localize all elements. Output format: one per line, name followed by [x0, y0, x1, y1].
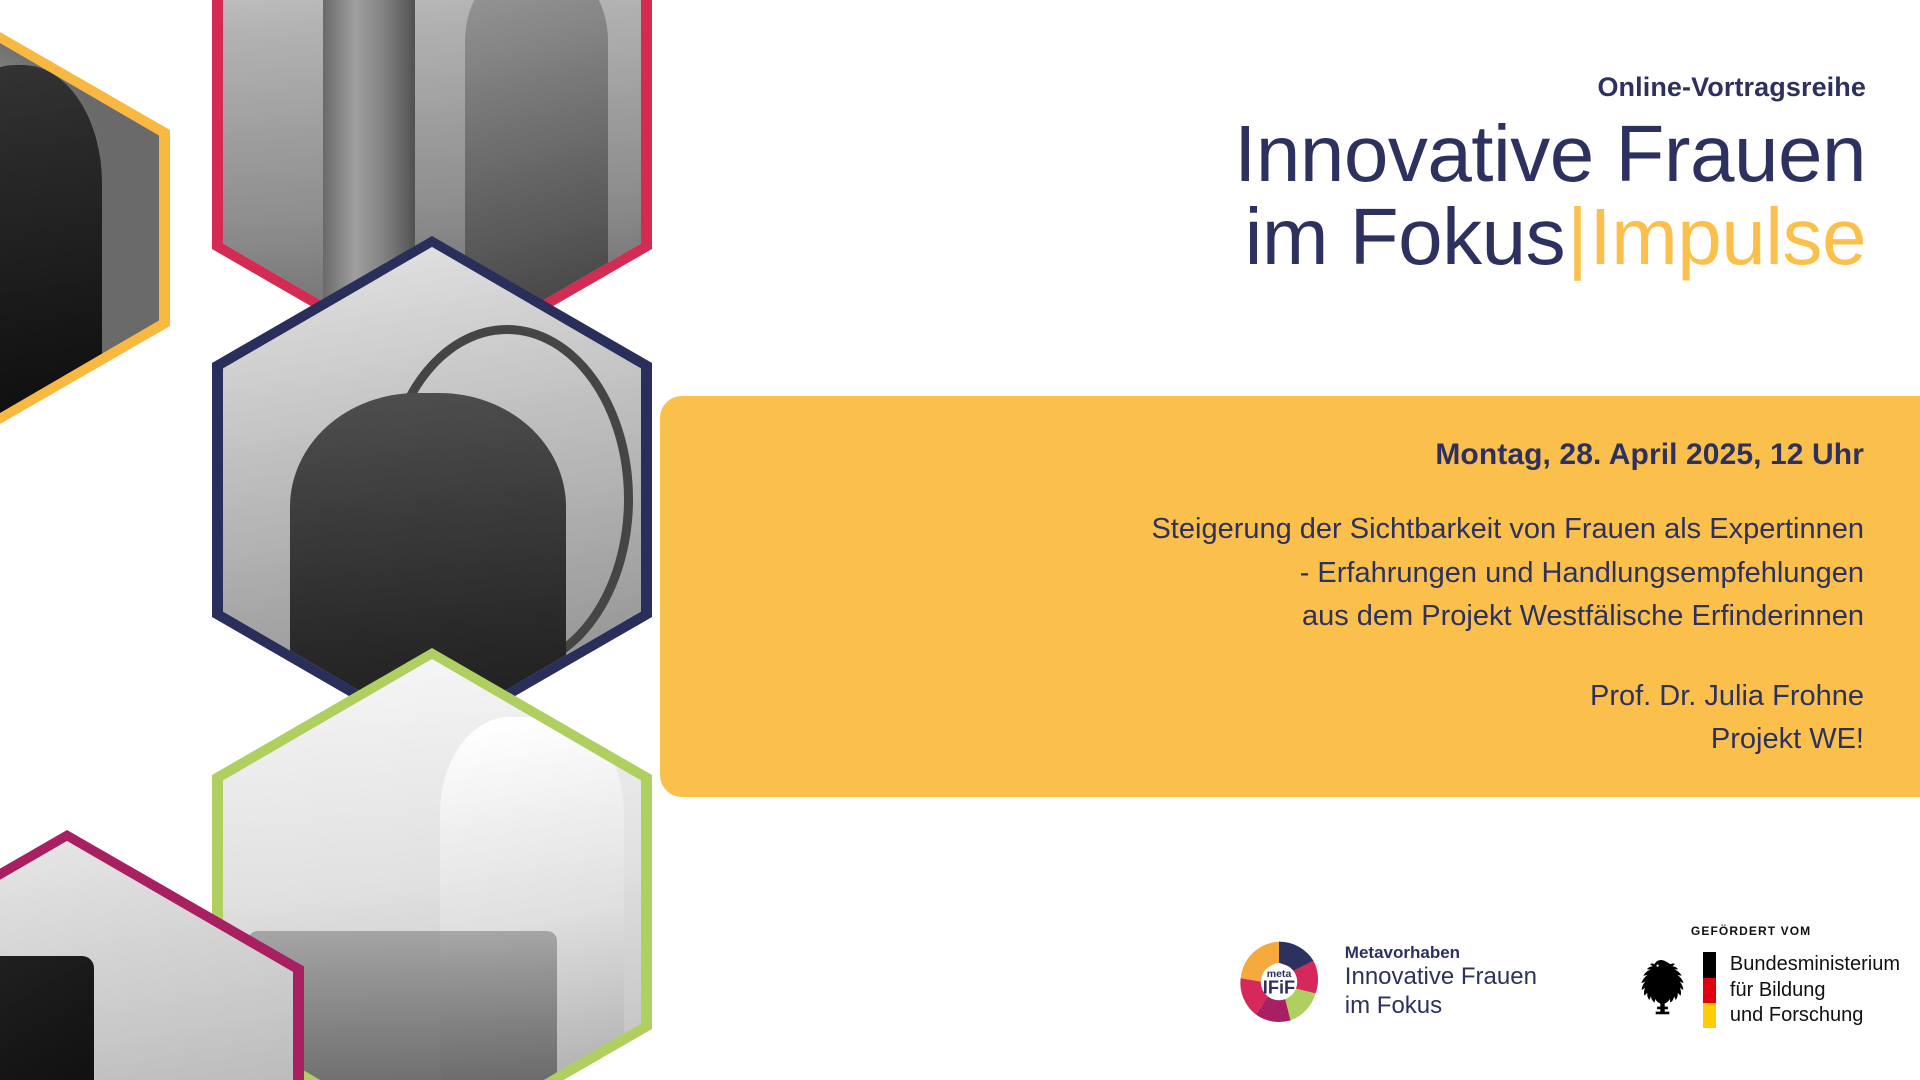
speaker-project: Projekt WE! — [720, 718, 1864, 762]
german-flag-bar-icon — [1703, 952, 1716, 1028]
title-line-2-main: im Fokus — [1245, 192, 1566, 281]
ifif-wordmark: Metavorhaben Innovative Frauen im Fokus — [1345, 943, 1537, 1021]
ifif-aperture-icon: meta IFiF — [1231, 934, 1327, 1030]
photo-woman-speaking-at-lectern — [0, 43, 159, 413]
description-line: - Erfahrungen und Handlungsempfehlungen — [720, 552, 1864, 596]
event-date: Montag, 28. April 2025, 12 Uhr — [720, 438, 1864, 472]
event-info-box: Montag, 28. April 2025, 12 Uhr Steigerun… — [660, 396, 1920, 797]
ifif-line-1: Metavorhaben — [1345, 943, 1537, 963]
title-separator: | — [1565, 192, 1589, 281]
ifif-line-3: im Fokus — [1345, 992, 1537, 1021]
ifif-line-2: Innovative Frauen — [1345, 963, 1537, 992]
event-description: Steigerung der Sichtbarkeit von Frauen a… — [720, 508, 1864, 639]
logo-strip: meta IFiF Metavorhaben Innovative Frauen… — [840, 844, 1920, 1044]
description-line: aus dem Projekt Westfälische Erfinderinn… — [720, 595, 1864, 639]
bmbf-funding-kicker: GEFÖRDERT VOM — [1691, 924, 1811, 938]
title-line-2-accent: Impulse — [1589, 192, 1866, 281]
title-line-2: im Fokus|Impulse — [1234, 195, 1866, 278]
logo-bmbf: GEFÖRDERT VOM Bundesministe — [1613, 914, 1920, 1044]
flag-stripe-black — [1703, 952, 1716, 977]
page-title: Innovative Frauen im Fokus|Impulse — [1234, 112, 1866, 278]
content-panel: Online-Vortragsreihe Innovative Frauen i… — [660, 0, 1920, 1080]
series-kicker: Online-Vortragsreihe — [1597, 72, 1866, 103]
federal-eagle-icon — [1633, 952, 1689, 1024]
flag-stripe-gold — [1703, 1003, 1716, 1028]
description-line: Steigerung der Sichtbarkeit von Frauen a… — [720, 508, 1864, 552]
event-speaker: Prof. Dr. Julia Frohne Projekt WE! — [720, 675, 1864, 762]
svg-text:IFiF: IFiF — [1263, 977, 1295, 998]
speaker-name: Prof. Dr. Julia Frohne — [720, 675, 1864, 719]
hexagon-collage — [0, 0, 660, 1080]
bmbf-line-1: Bundesministerium — [1730, 952, 1900, 977]
hexagon-lecture — [0, 32, 170, 424]
bmbf-wordmark: Bundesministerium für Bildung und Forsch… — [1730, 952, 1900, 1028]
flag-stripe-red — [1703, 978, 1716, 1003]
logo-meta-ifif: meta IFiF Metavorhaben Innovative Frauen… — [1213, 920, 1555, 1044]
bmbf-line-3: und Forschung — [1730, 1003, 1900, 1028]
bmbf-line-2: für Bildung — [1730, 978, 1900, 1003]
title-line-1: Innovative Frauen — [1234, 112, 1866, 195]
